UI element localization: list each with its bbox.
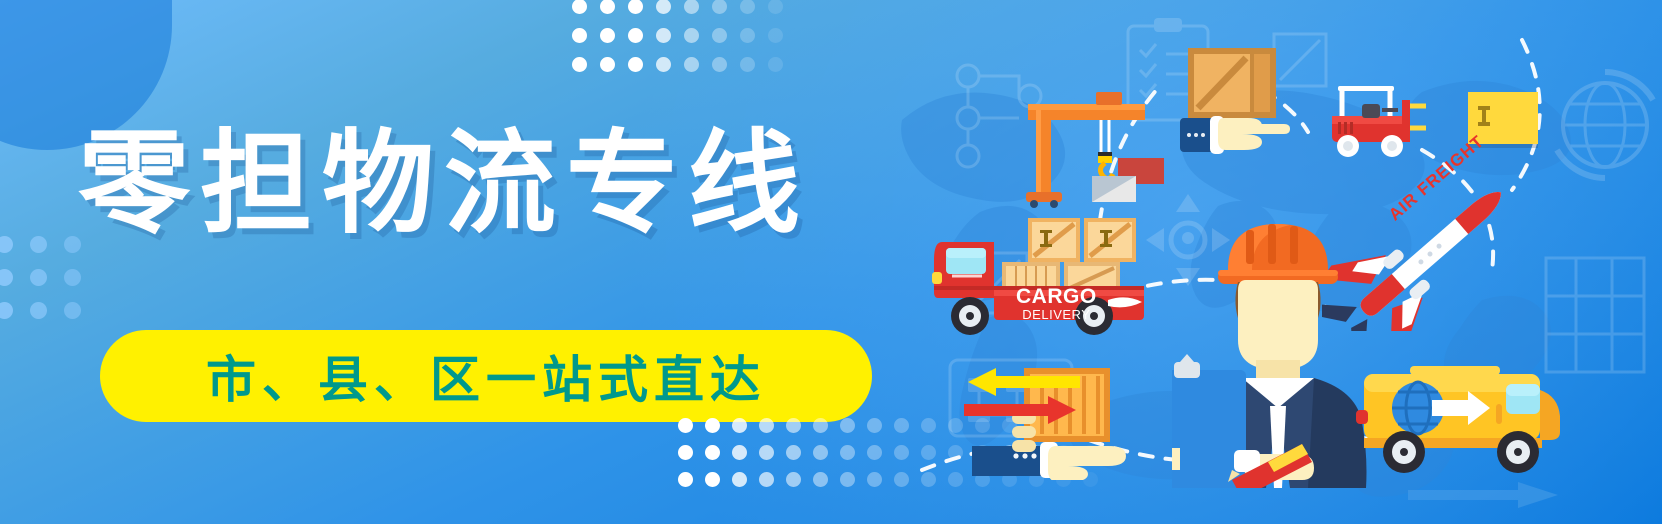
pointing-hand-illustration — [1180, 104, 1290, 164]
truck-label-cargo: CARGO — [1016, 286, 1097, 308]
subtitle-text: 市、县、区一站式直达 — [206, 340, 766, 412]
logistics-worker-illustration — [1172, 196, 1384, 488]
dot-grid-left — [0, 228, 90, 327]
page-title: 零担物流专线 — [78, 118, 810, 250]
ground-arrow-decoration — [1408, 482, 1558, 508]
truck-label-delivery: DELIVERY — [1016, 308, 1097, 322]
logistics-banner: 零担物流专线 市、县、区一站式直达 — [0, 0, 1662, 524]
subtitle-pill: 市、县、区一站式直达 — [100, 330, 872, 422]
dot-grid-top — [565, 0, 789, 79]
truck-label: CARGO DELIVERY — [932, 212, 1147, 337]
crane-cargo-boxes — [1092, 152, 1164, 202]
forklift-illustration — [1296, 82, 1428, 160]
delivery-van-illustration — [1356, 360, 1564, 482]
exchange-arrows-illustration — [962, 368, 1082, 428]
